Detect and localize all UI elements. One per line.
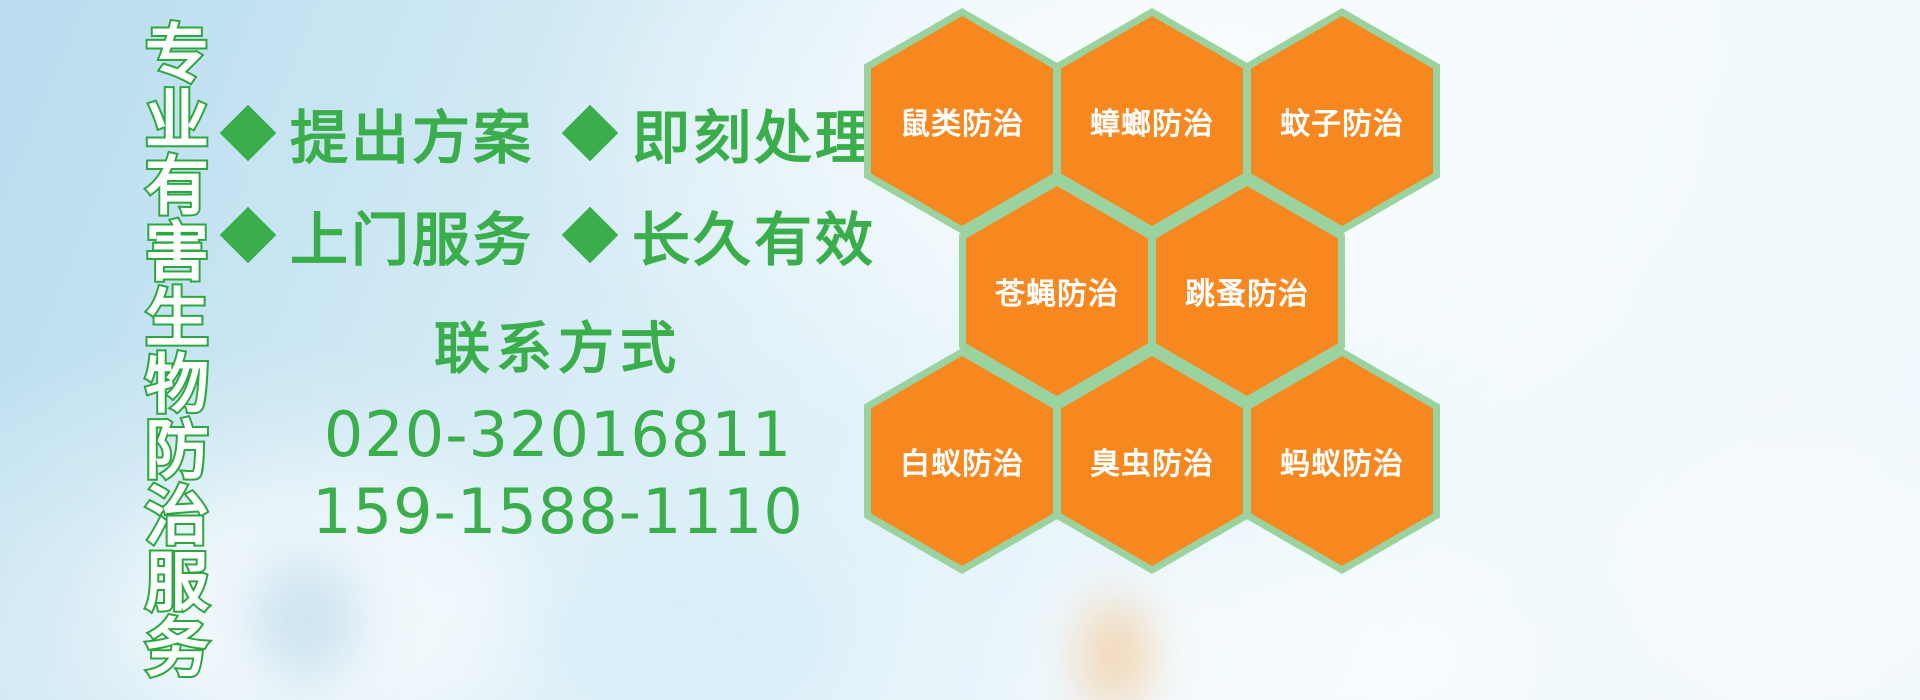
- background-light-blob: [1080, 600, 1150, 700]
- service-hexagon-label: 蚂蚁防治: [1280, 439, 1404, 483]
- service-hexagon-cluster: 鼠类防治 蟑螂防治 蚊子防治 苍蝇防治 跳蚤防治 白蚁防治 臭虫防治: [856, 0, 1496, 560]
- feature-item-label: 上门服务: [290, 193, 534, 277]
- phone-number-landline[interactable]: 020-32016811: [228, 396, 888, 474]
- feature-list: 提出方案 即刻处理 上门服务 长久有效: [228, 82, 888, 286]
- contact-title: 联系方式: [228, 318, 888, 380]
- feature-item-label: 提出方案: [290, 91, 534, 175]
- service-hexagon-label: 蟑螂防治: [1090, 99, 1214, 143]
- feature-row: 提出方案 即刻处理: [228, 82, 888, 184]
- diamond-icon: [562, 207, 619, 264]
- background-light-blob: [540, 540, 840, 700]
- service-hexagon-label: 苍蝇防治: [995, 269, 1119, 313]
- contact-block: 联系方式 020-32016811 159-1588-1110: [228, 318, 888, 551]
- vertical-slogan: 专业有害生物防治服务: [108, 20, 204, 680]
- service-hexagon-label: 蚊子防治: [1280, 99, 1404, 143]
- diamond-icon: [220, 207, 277, 264]
- diamond-icon: [220, 105, 277, 162]
- phone-number-mobile[interactable]: 159-1588-1110: [228, 473, 888, 551]
- service-hexagon-label: 白蚁防治: [900, 439, 1024, 483]
- background-light-blob: [1620, 430, 1920, 700]
- background-light-blob: [1020, 560, 1540, 700]
- feature-item-label: 即刻处理: [632, 91, 876, 175]
- service-hexagon-label: 跳蚤防治: [1185, 269, 1309, 313]
- background-light-blob: [250, 560, 360, 680]
- diamond-icon: [562, 105, 619, 162]
- service-hexagon-label: 臭虫防治: [1090, 439, 1214, 483]
- feature-row: 上门服务 长久有效: [228, 184, 888, 286]
- service-hexagon-label: 鼠类防治: [900, 99, 1024, 143]
- feature-item-label: 长久有效: [632, 193, 876, 277]
- pest-control-banner: 专业有害生物防治服务 提出方案 即刻处理 上门服务 长久有效 联系方式 020-…: [0, 0, 1920, 700]
